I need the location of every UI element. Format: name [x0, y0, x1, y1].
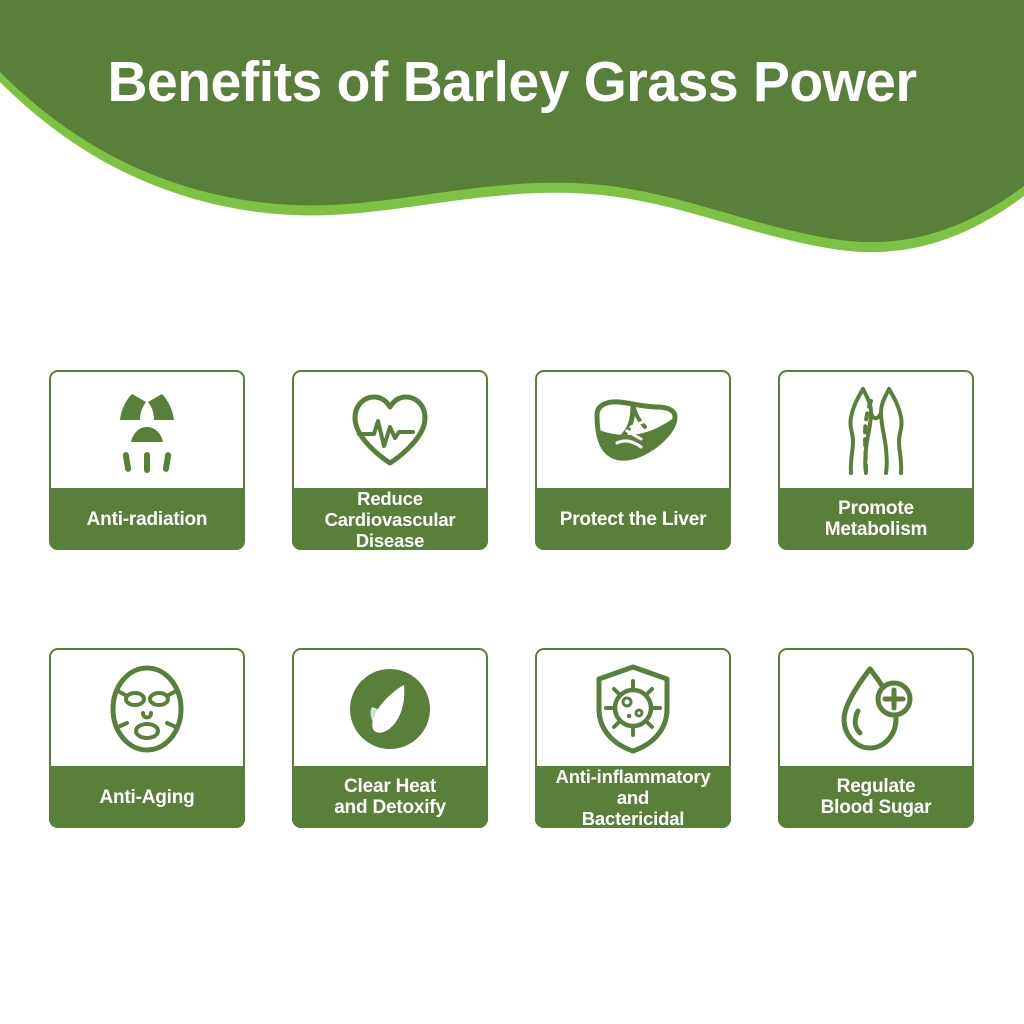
- liver-icon: [587, 391, 679, 471]
- benefit-card-anti-inflammatory-and-bactericidal[interactable]: Anti-inflammatory and Bactericidal: [535, 648, 731, 828]
- page-title: Benefits of Barley Grass Power: [15, 46, 1008, 118]
- card-label: Regulate Blood Sugar: [821, 776, 932, 818]
- card-icon-area: [294, 650, 486, 768]
- card-label: Clear Heat and Detoxify: [334, 776, 446, 818]
- card-icon-area: [51, 372, 243, 490]
- benefits-grid: Anti-radiation Reduce Cardiovascular Dis…: [49, 370, 975, 830]
- benefit-row: Anti-radiation Reduce Cardiovascular Dis…: [49, 370, 975, 550]
- header-banner: Benefits of Barley Grass Power: [0, 0, 1024, 260]
- benefit-card-clear-heat-and-detoxify[interactable]: Clear Heat and Detoxify: [292, 648, 488, 828]
- card-icon-area: [780, 650, 972, 768]
- benefit-card-reduce-cardiovascular-disease[interactable]: Reduce Cardiovascular Disease: [292, 370, 488, 550]
- header-main-wave: [0, 0, 1024, 242]
- face-mask-icon: [105, 663, 189, 755]
- card-icon-area: [780, 372, 972, 490]
- benefit-card-anti-radiation[interactable]: Anti-radiation: [49, 370, 245, 550]
- card-icon-area: [294, 372, 486, 490]
- card-label-band: Anti-radiation: [49, 488, 245, 550]
- benefit-card-regulate-blood-sugar[interactable]: Regulate Blood Sugar: [778, 648, 974, 828]
- card-icon-area: [51, 650, 243, 768]
- card-label: Anti-radiation: [87, 509, 208, 530]
- benefit-card-anti-aging[interactable]: Anti-Aging: [49, 648, 245, 828]
- leaf-circle-icon: [348, 667, 432, 751]
- card-label-band: Anti-Aging: [49, 766, 245, 828]
- card-label: Reduce Cardiovascular Disease: [325, 488, 456, 551]
- card-label: Anti-inflammatory and Bactericidal: [556, 766, 711, 829]
- card-label-band: Protect the Liver: [535, 488, 731, 550]
- card-label-band: Promote Metabolism: [778, 488, 974, 550]
- heart-pulse-icon: [347, 391, 433, 471]
- card-icon-area: [537, 372, 729, 490]
- blood-drop-plus-icon: [836, 663, 916, 755]
- benefit-row: Anti-Aging Clear Heat and Detoxify: [49, 648, 975, 828]
- card-label: Protect the Liver: [560, 509, 707, 530]
- radiation-icon: [106, 388, 188, 474]
- card-label: Promote Metabolism: [825, 498, 928, 540]
- card-icon-area: [537, 650, 729, 768]
- card-label-band: Anti-inflammatory and Bactericidal: [535, 766, 731, 828]
- benefit-card-protect-the-liver[interactable]: Protect the Liver: [535, 370, 731, 550]
- card-label-band: Regulate Blood Sugar: [778, 766, 974, 828]
- header-wave-shape: [0, 0, 1024, 260]
- shield-virus-icon: [591, 663, 675, 755]
- card-label-band: Clear Heat and Detoxify: [292, 766, 488, 828]
- body-torso-icon: [841, 385, 911, 477]
- benefit-card-promote-metabolism[interactable]: Promote Metabolism: [778, 370, 974, 550]
- card-label-band: Reduce Cardiovascular Disease: [292, 488, 488, 550]
- card-label: Anti-Aging: [99, 787, 194, 808]
